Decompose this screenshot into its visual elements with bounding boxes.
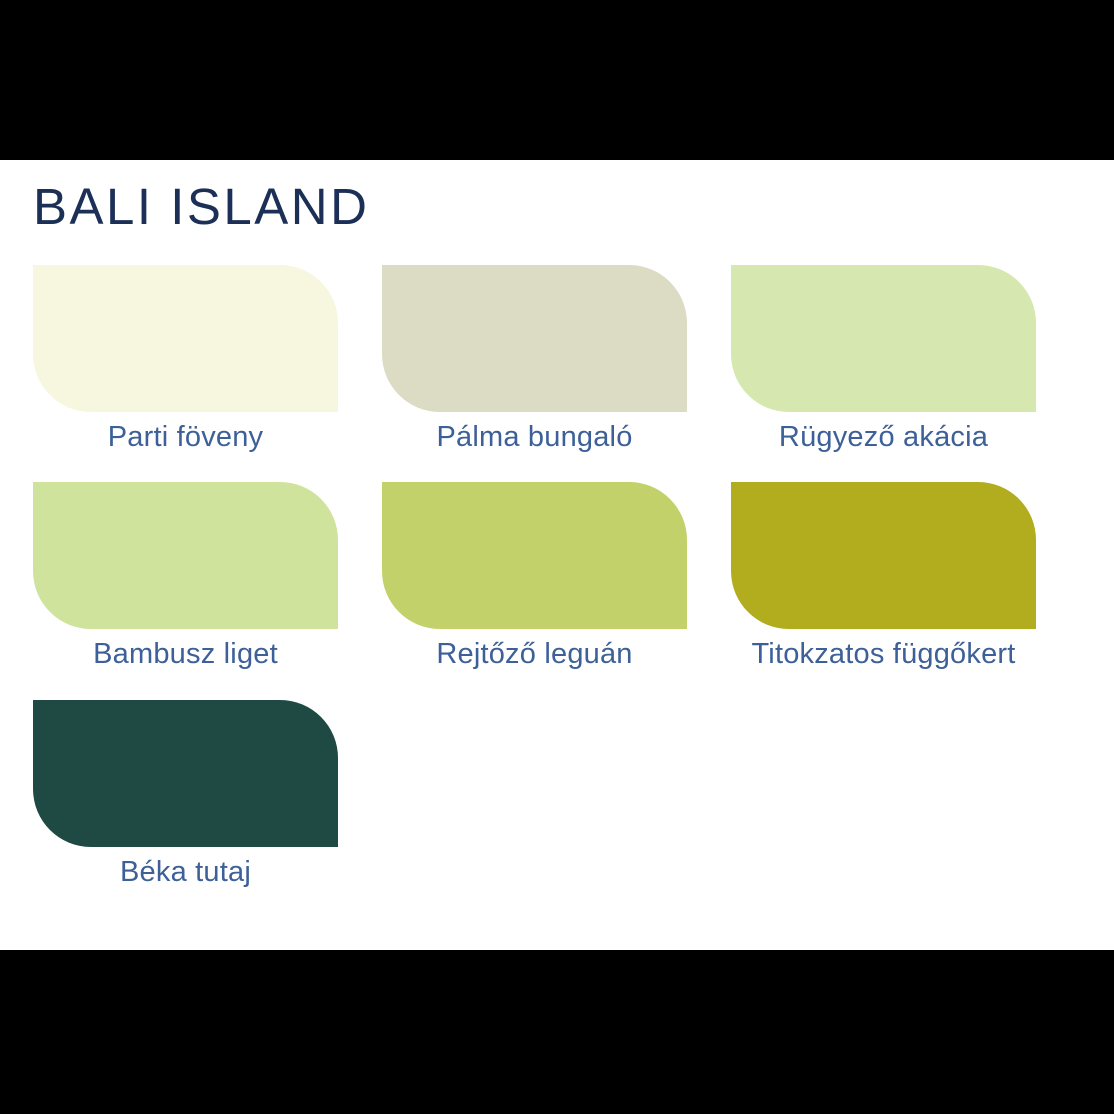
letterbox-bar-bottom <box>0 950 1114 1114</box>
colour-name-label: Pálma bungaló <box>382 412 687 454</box>
colour-chip[interactable] <box>731 482 1036 629</box>
swatch-grid: Parti fövenyPálma bungalóRügyező akáciaB… <box>33 265 1081 889</box>
colour-chip[interactable] <box>382 265 687 412</box>
letterbox-bar-top <box>0 0 1114 160</box>
palette-card: BALI ISLAND Parti fövenyPálma bungalóRüg… <box>0 0 1114 1114</box>
colour-name-label: Béka tutaj <box>33 847 338 889</box>
swatch-cell[interactable]: Béka tutaj <box>33 700 338 889</box>
colour-chip[interactable] <box>33 265 338 412</box>
swatch-cell[interactable]: Rejtőző leguán <box>382 482 687 671</box>
colour-name-label: Rügyező akácia <box>731 412 1036 454</box>
colour-name-label: Rejtőző leguán <box>382 629 687 671</box>
swatch-cell[interactable]: Bambusz liget <box>33 482 338 671</box>
colour-chip[interactable] <box>731 265 1036 412</box>
swatch-cell[interactable]: Parti föveny <box>33 265 338 454</box>
colour-chip[interactable] <box>382 482 687 629</box>
content-panel: BALI ISLAND Parti fövenyPálma bungalóRüg… <box>0 160 1114 950</box>
swatch-cell[interactable]: Pálma bungaló <box>382 265 687 454</box>
colour-name-label: Parti föveny <box>33 412 338 454</box>
swatch-cell[interactable]: Rügyező akácia <box>731 265 1036 454</box>
colour-name-label: Bambusz liget <box>33 629 338 671</box>
swatch-cell[interactable]: Titokzatos függőkert <box>731 482 1036 671</box>
colour-chip[interactable] <box>33 482 338 629</box>
colour-name-label: Titokzatos függőkert <box>731 629 1036 671</box>
page-title: BALI ISLAND <box>33 181 369 232</box>
colour-chip[interactable] <box>33 700 338 847</box>
